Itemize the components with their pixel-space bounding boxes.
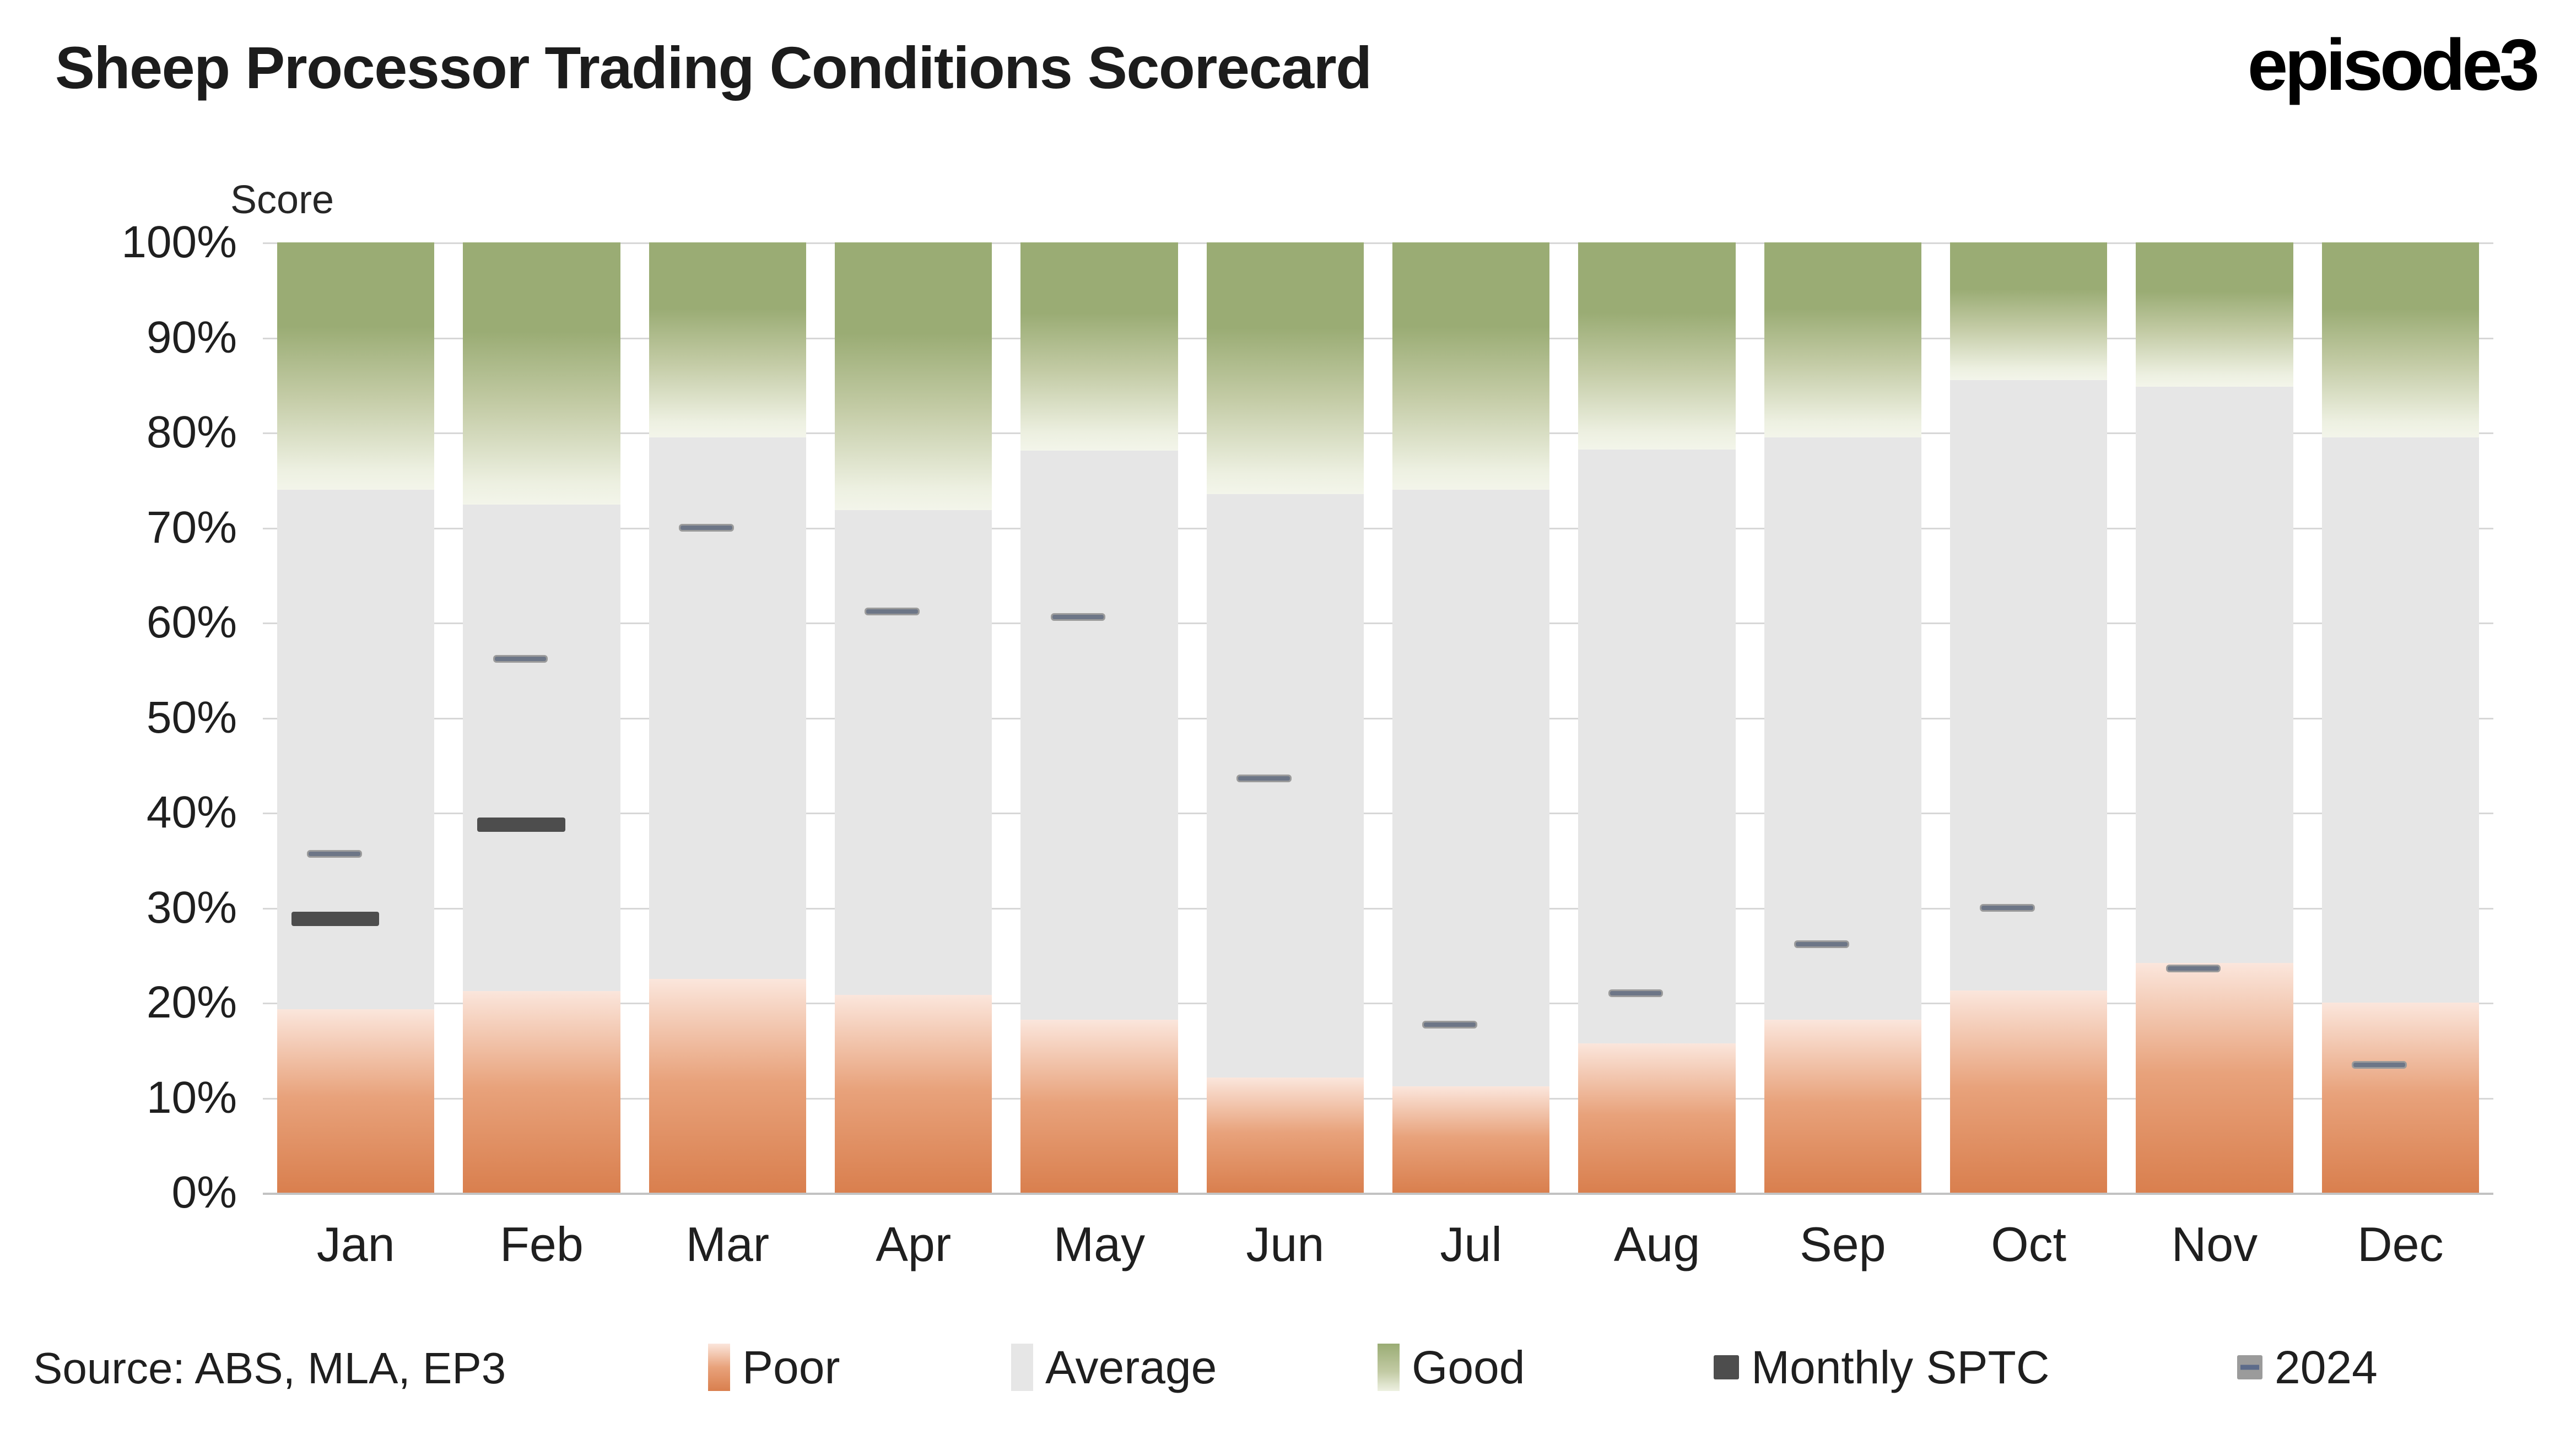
bar-segment-good xyxy=(1020,242,1178,451)
marker-2024 xyxy=(679,524,734,532)
x-axis-tick-label: Feb xyxy=(449,1220,634,1269)
plot-area xyxy=(263,242,2493,1193)
marker-2024 xyxy=(1051,613,1106,621)
chart-page: Sheep Processor Trading Conditions Score… xyxy=(0,0,2576,1429)
legend-swatch-poor xyxy=(708,1344,730,1391)
legend-swatch-good xyxy=(1378,1344,1400,1391)
bar-segment-poor xyxy=(2322,1003,2479,1193)
bar-segment-average xyxy=(463,505,620,991)
bar-segment-good xyxy=(1578,242,1735,450)
y-axis-tick-label: 70% xyxy=(28,505,237,550)
y-axis-tick-label: 10% xyxy=(28,1075,237,1121)
bar-segment-average xyxy=(1578,450,1735,1043)
bar-segment-poor xyxy=(1207,1078,1364,1193)
x-axis-tick-label: Jan xyxy=(263,1220,449,1269)
bar-segment-average xyxy=(2322,437,2479,1003)
bar-segment-poor xyxy=(277,1009,434,1193)
bar-segment-good xyxy=(1764,242,1921,437)
bar-group[interactable] xyxy=(1392,242,1549,1193)
x-axis-tick-label: Apr xyxy=(820,1220,1006,1269)
y-axis-tick-label: 0% xyxy=(28,1170,237,1215)
bar-segment-poor xyxy=(835,995,992,1193)
marker-2024 xyxy=(1236,775,1292,782)
bar-segment-average xyxy=(649,437,806,979)
bar-segment-poor xyxy=(649,979,806,1193)
bar-group[interactable] xyxy=(1950,242,2107,1193)
y-axis-tick-label: 80% xyxy=(28,410,237,455)
x-axis-tick-label: Jun xyxy=(1192,1220,1378,1269)
marker-2024 xyxy=(1608,989,1664,997)
legend-dash-monthly-sptc xyxy=(1714,1355,1739,1379)
y-axis-tick-label: 20% xyxy=(28,980,237,1025)
legend-item[interactable]: Poor xyxy=(708,1342,840,1393)
legend-dash-2024 xyxy=(2237,1355,2262,1379)
x-axis-tick-label: Nov xyxy=(2121,1220,2307,1269)
bar-segment-poor xyxy=(1020,1020,1178,1193)
marker-2024 xyxy=(2166,965,2221,972)
bar-group[interactable] xyxy=(2322,242,2479,1193)
bar-segment-poor xyxy=(1392,1086,1549,1193)
bar-segment-average xyxy=(1207,494,1364,1078)
y-axis-tick-label: 60% xyxy=(28,600,237,645)
bar-segment-good xyxy=(277,242,434,490)
bar-segment-good xyxy=(2136,242,2293,387)
y-axis-tick-label: 90% xyxy=(28,315,237,360)
legend-swatch-average xyxy=(1011,1344,1033,1391)
bar-segment-average xyxy=(835,510,992,995)
marker-2024 xyxy=(1980,904,2035,912)
x-axis-tick-label: Dec xyxy=(2308,1220,2493,1269)
x-axis-tick-label: Jul xyxy=(1378,1220,1564,1269)
bar-group[interactable] xyxy=(277,242,434,1193)
bar-segment-average xyxy=(1950,380,2107,990)
bar-segment-poor xyxy=(1764,1020,1921,1193)
marker-monthly-sptc xyxy=(291,912,380,926)
bar-segment-good xyxy=(1392,242,1549,490)
x-axis-tick-label: May xyxy=(1006,1220,1192,1269)
x-axis-tick-label: Oct xyxy=(1936,1220,2121,1269)
bar-segment-good xyxy=(2322,242,2479,437)
gridline xyxy=(263,1193,2493,1195)
bar-segment-average xyxy=(277,490,434,1010)
x-axis-tick-label: Aug xyxy=(1564,1220,1749,1269)
x-axis-tick-label: Mar xyxy=(635,1220,820,1269)
bar-segment-good xyxy=(649,242,806,437)
chart-footer: Source: ABS, MLA, EP3 PoorAverageGoodMon… xyxy=(0,1328,2576,1429)
bar-segment-good xyxy=(835,242,992,510)
legend-item[interactable]: Good xyxy=(1378,1342,1525,1393)
legend-label: 2024 xyxy=(2275,1342,2378,1393)
marker-2024 xyxy=(493,655,548,663)
y-axis-tick-label: 100% xyxy=(28,220,237,265)
y-axis-tick-label: 30% xyxy=(28,885,237,930)
marker-2024 xyxy=(1794,940,1849,948)
y-axis-tick-label: 40% xyxy=(28,790,237,835)
bar-segment-average xyxy=(2136,387,2293,962)
bar-group[interactable] xyxy=(649,242,806,1193)
marker-monthly-sptc xyxy=(477,818,565,832)
bar-group[interactable] xyxy=(1764,242,1921,1193)
bar-segment-average xyxy=(1392,490,1549,1086)
y-axis-tick-label: 50% xyxy=(28,695,237,740)
bar-segment-good xyxy=(1207,242,1364,494)
legend-item[interactable]: 2024 xyxy=(2237,1342,2378,1393)
bar-group[interactable] xyxy=(1020,242,1178,1193)
bar-segment-average xyxy=(1020,451,1178,1020)
legend-label: Poor xyxy=(742,1342,840,1393)
bar-group[interactable] xyxy=(1578,242,1735,1193)
marker-2024 xyxy=(307,850,362,858)
bar-group[interactable] xyxy=(835,242,992,1193)
marker-2024 xyxy=(1422,1021,1477,1029)
x-axis-tick-label: Sep xyxy=(1750,1220,1936,1269)
marker-2024 xyxy=(865,608,920,615)
legend-label: Average xyxy=(1045,1342,1217,1393)
legend-item[interactable]: Average xyxy=(1011,1342,1217,1393)
legend-label: Good xyxy=(1412,1342,1525,1393)
source-note: Source: ABS, MLA, EP3 xyxy=(33,1344,506,1393)
bar-segment-poor xyxy=(1578,1043,1735,1193)
legend-item[interactable]: Monthly SPTC xyxy=(1714,1342,2050,1393)
bar-segment-poor xyxy=(2136,963,2293,1193)
bar-segment-poor xyxy=(1950,990,2107,1193)
bar-group[interactable] xyxy=(1207,242,1364,1193)
bar-group[interactable] xyxy=(463,242,620,1193)
bar-segment-average xyxy=(1764,437,1921,1020)
legend-label: Monthly SPTC xyxy=(1751,1342,2050,1393)
bar-segment-good xyxy=(463,242,620,505)
bar-group[interactable] xyxy=(2136,242,2293,1193)
bar-segment-poor xyxy=(463,991,620,1193)
marker-2024 xyxy=(2352,1061,2407,1069)
bar-segment-good xyxy=(1950,242,2107,380)
